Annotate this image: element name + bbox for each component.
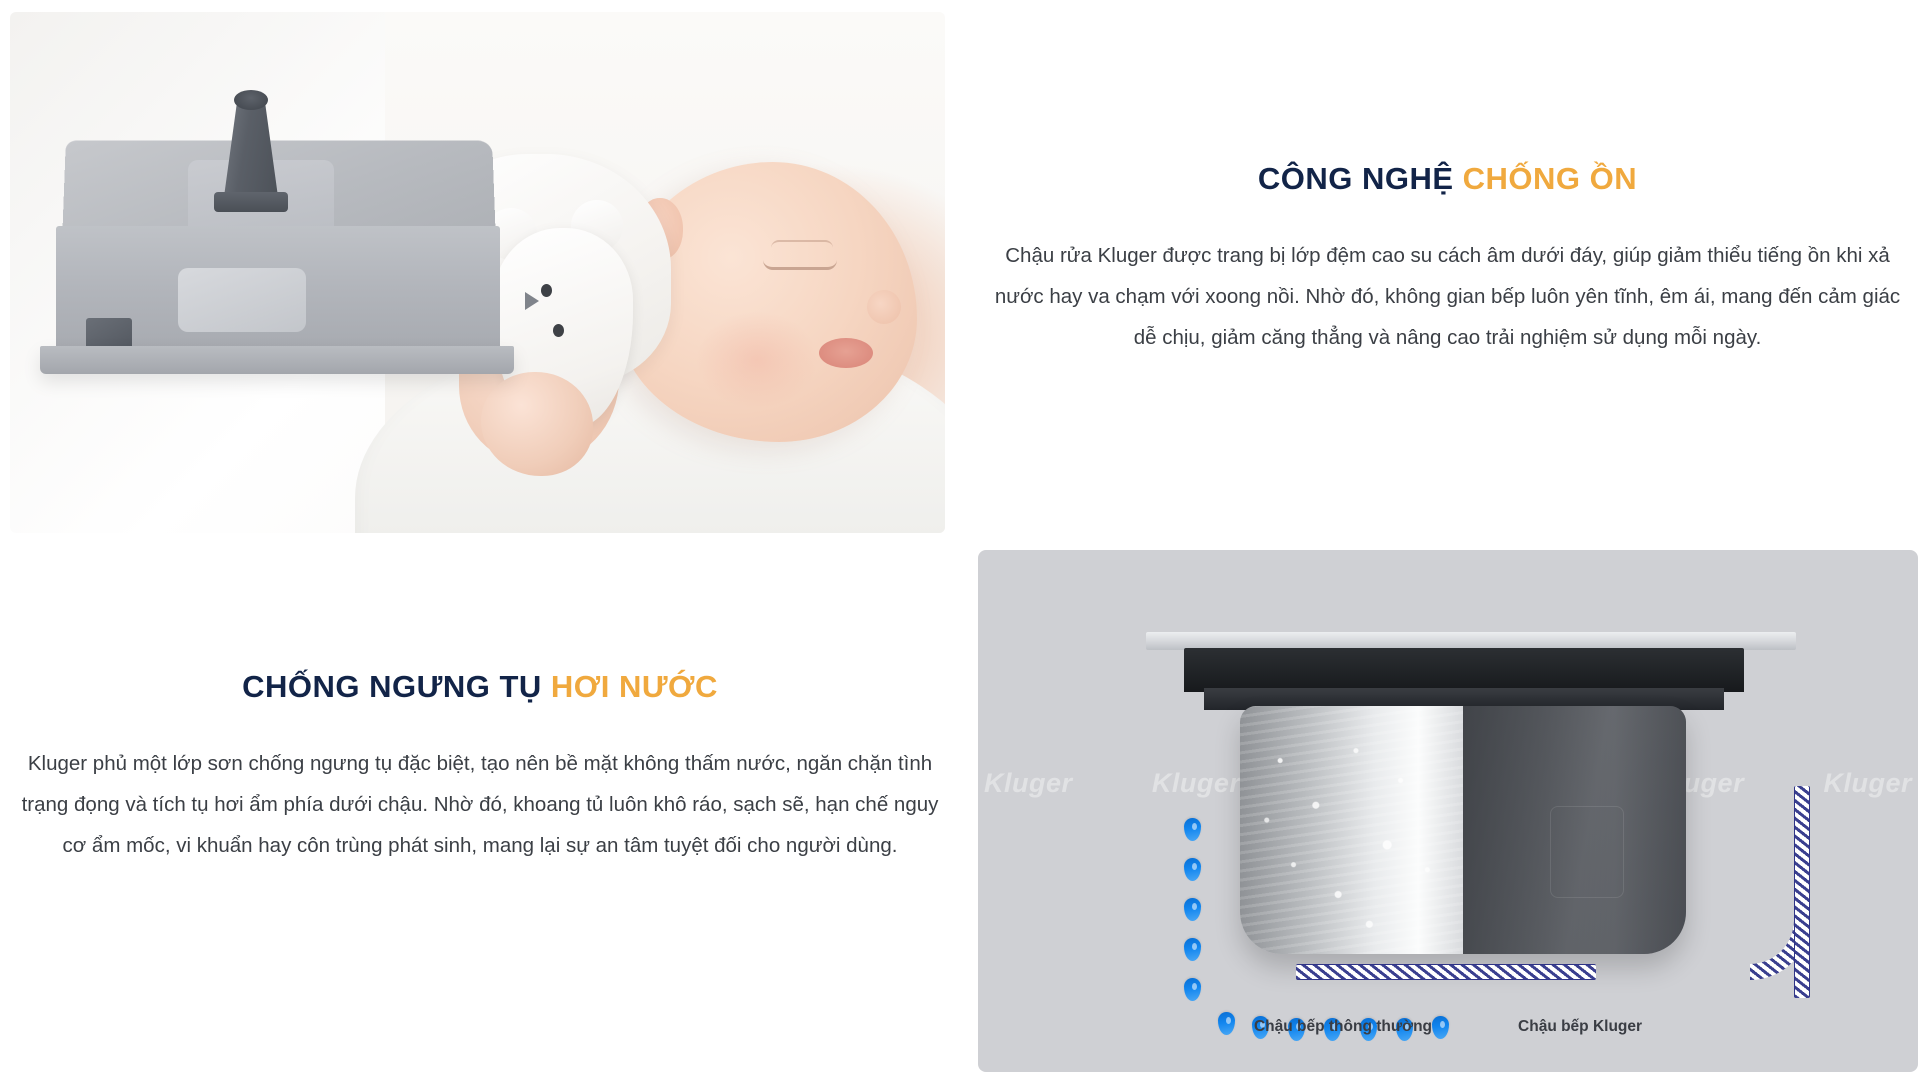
section-anti-condensation: CHỐNG NGƯNG TỤ HƠI NƯỚC Kluger phủ một l…: [0, 540, 1920, 1080]
label-standard-sink: Chậu bếp thông thường: [1254, 1018, 1432, 1036]
anti-condensation-body: Kluger phủ một lớp sơn chống ngưng tụ đặ…: [0, 743, 960, 866]
product-feature-page: Bộ phận chậu rửa màu xám bên cạnh em bé …: [0, 0, 1920, 1080]
teddy-nose: [525, 292, 539, 310]
condensation-comparison-illustration: Kluger Kluger Kluger Kluger Kluger Kluge…: [978, 550, 1918, 1072]
baby-cheek: [697, 312, 817, 408]
anti-noise-heading: CÔNG NGHỆ CHỐNG ỒN: [975, 160, 1920, 199]
anti-condensation-heading-primary: CHỐNG NGƯNG TỤ: [242, 669, 542, 704]
watermark: Kluger: [984, 768, 1073, 799]
anti-condensation-heading-accent: HƠI NƯỚC: [551, 669, 718, 704]
bowl-body: [1240, 706, 1686, 954]
anti-condensation-text-column: CHỐNG NGƯNG TỤ HƠI NƯỚC Kluger phủ một l…: [0, 540, 960, 1080]
module-window: [178, 268, 306, 332]
bowl-rim: [1184, 648, 1744, 692]
anti-noise-body: Chậu rửa Kluger được trang bị lớp đệm ca…: [975, 235, 1920, 358]
anti-condensation-heading: CHỐNG NGƯNG TỤ HƠI NƯỚC: [0, 668, 960, 707]
sink-bowl-cross-section: [1184, 648, 1744, 948]
water-droplet-icon: [1184, 938, 1201, 961]
label-kluger-sink: Chậu bếp Kluger: [1518, 1018, 1642, 1036]
teddy-eye-left: [541, 284, 552, 297]
sink-sound-dampening-module: [38, 140, 518, 400]
module-nozzle-cap: [234, 90, 268, 110]
anti-noise-heading-accent: CHỐNG ỒN: [1463, 161, 1638, 196]
anti-noise-photo: Bộ phận chậu rửa màu xám bên cạnh em bé …: [10, 12, 945, 533]
section-anti-noise: Bộ phận chậu rửa màu xám bên cạnh em bé …: [0, 0, 1920, 540]
drainage-pipe-horizontal: [1296, 964, 1596, 980]
baby-eyelid: [763, 260, 837, 270]
module-base: [40, 346, 514, 374]
module-collar: [214, 192, 288, 212]
baby-nose: [867, 290, 901, 324]
module-nozzle: [223, 98, 279, 204]
drainage-pipe-vertical: [1794, 786, 1810, 998]
bowl-drain-outline: [1550, 806, 1624, 898]
baby-lips: [819, 338, 873, 368]
illustration-labels: Chậu bếp thông thường Chậu bếp Kluger: [978, 1018, 1918, 1036]
water-droplet-icon: [1184, 978, 1201, 1001]
anti-noise-heading-primary: CÔNG NGHỆ: [1258, 161, 1454, 196]
bowl-condensation-side: [1240, 706, 1463, 954]
watermark: Kluger: [1823, 768, 1912, 799]
teddy-eye-right: [553, 324, 564, 337]
anti-condensation-image-alt: Minh hoạ so sánh mặt cắt chậu bếp thông …: [978, 550, 979, 551]
anti-noise-photo-alt: Bộ phận chậu rửa màu xám bên cạnh em bé …: [10, 12, 11, 13]
baby-eyebrow: [771, 240, 833, 248]
anti-noise-text-column: CÔNG NGHỆ CHỐNG ỒN Chậu rửa Kluger được …: [975, 12, 1920, 533]
